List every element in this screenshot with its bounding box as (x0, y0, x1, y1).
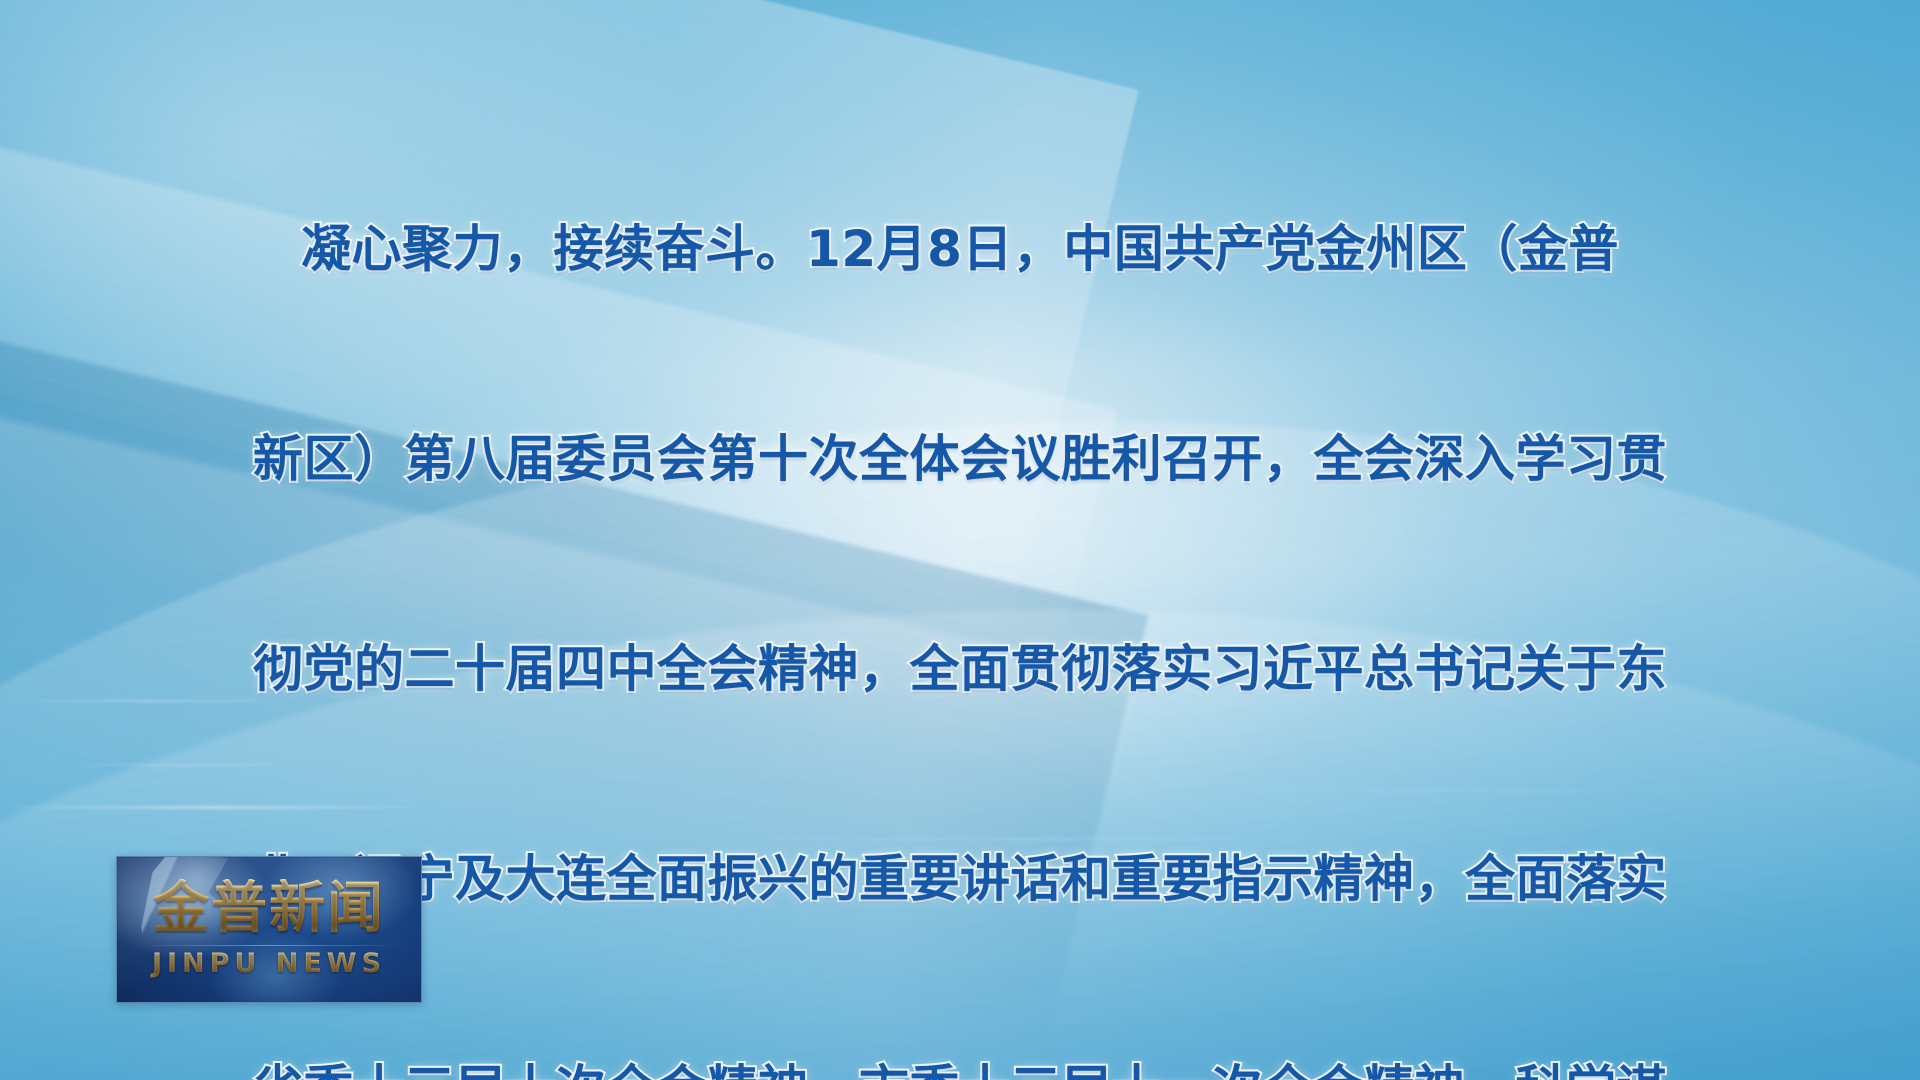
logo-divider (135, 945, 403, 946)
caption-line: 凝心聚力，接续奋斗。12月8日，中国共产党金州区（金普 (176, 214, 1744, 284)
program-name-en: JINPU NEWS (117, 949, 421, 979)
caption-line: 彻党的二十届四中全会精神，全面贯彻落实习近平总书记关于东 (176, 634, 1744, 704)
program-logo-bug: 金普新闻 JINPU NEWS (116, 856, 422, 1003)
broadcast-screen: 凝心聚力，接续奋斗。12月8日，中国共产党金州区（金普 新区）第八届委员会第十次… (0, 0, 1920, 1080)
program-name-cn: 金普新闻 (117, 879, 421, 939)
caption-line: 省委十三届十次全会精神、市委十三届十一次全会精神，科学谋 (176, 1054, 1744, 1080)
caption-line: 新区）第八届委员会第十次全体会议胜利召开，全会深入学习贯 (176, 424, 1744, 494)
